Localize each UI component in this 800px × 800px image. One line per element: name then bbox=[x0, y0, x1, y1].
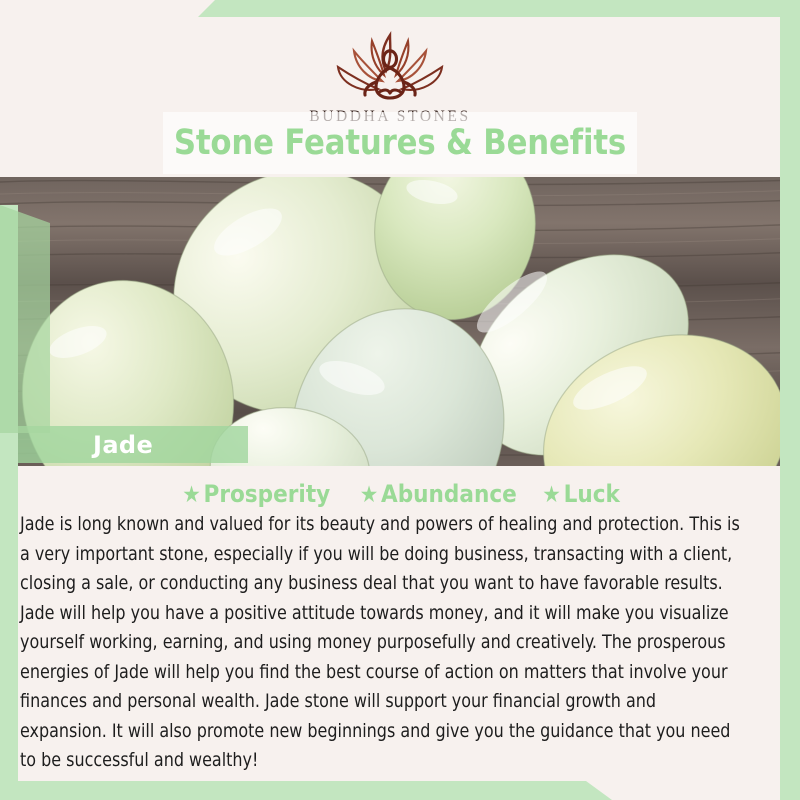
description-text: Jade is long known and valued for its be… bbox=[20, 510, 744, 776]
star-icon: ★ bbox=[542, 482, 561, 508]
page-title: Stone Features & Benefits bbox=[174, 123, 626, 163]
benefit-label: Prosperity bbox=[203, 480, 330, 508]
benefits-row: ★Prosperity ★Abundance ★Luck bbox=[18, 480, 780, 508]
banner-title-band: Stone Features & Benefits bbox=[163, 112, 637, 174]
star-icon: ★ bbox=[360, 482, 379, 508]
benefit-item-2: ★Luck bbox=[542, 480, 620, 508]
benefit-item-0: ★Prosperity bbox=[182, 480, 330, 508]
benefit-label: Luck bbox=[563, 480, 619, 508]
stone-name-label: Jade bbox=[93, 431, 153, 459]
frame-bottom-band bbox=[0, 781, 612, 800]
frame-right-band bbox=[780, 0, 800, 800]
stone-info-card: BUDDHA STONES Stone Features & Benefits … bbox=[0, 0, 800, 800]
frame-left-accent bbox=[0, 205, 50, 433]
benefit-item-1: ★Abundance bbox=[360, 480, 517, 508]
lotus-meditation-icon bbox=[320, 27, 460, 105]
description-panel: ★Prosperity ★Abundance ★Luck Jade is lon… bbox=[18, 466, 780, 782]
benefit-label: Abundance bbox=[381, 480, 517, 508]
stone-name-chip: Jade bbox=[18, 426, 248, 463]
jade-stones-photo bbox=[0, 170, 800, 466]
frame-top-band bbox=[0, 0, 800, 17]
star-icon: ★ bbox=[182, 482, 201, 508]
